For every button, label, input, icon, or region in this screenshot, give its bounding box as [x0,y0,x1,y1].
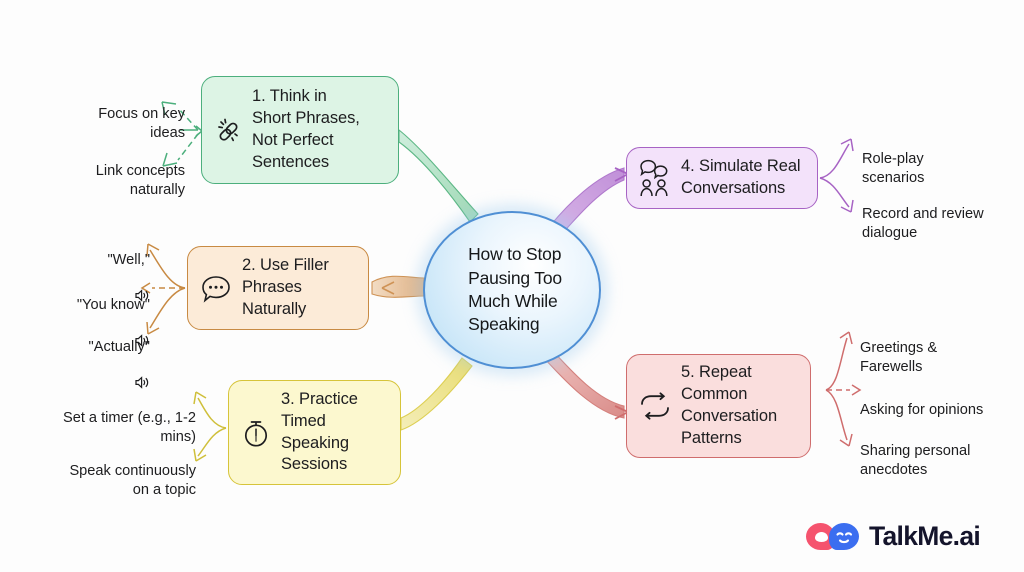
leaf-2-3[interactable]: "Actually" [50,319,150,395]
connector-branch-1 [399,130,478,222]
branch-node-3-label: 3. Practice Timed Speaking Sessions [281,389,358,477]
branch-node-2[interactable]: 2. Use Filler Phrases Naturally [187,246,369,330]
mindmap-canvas: How to Stop Pausing Too Much While Speak… [0,0,1024,572]
branch-node-3[interactable]: 3. Practice Timed Speaking Sessions [228,380,401,485]
leaf-connectors-branch-4 [820,139,853,212]
branch-node-4[interactable]: 4. Simulate Real Conversations [626,147,818,209]
leaf-3-2[interactable]: Speak continuously on a topic [18,443,196,500]
leaf-connectors-branch-3 [194,392,226,461]
talkme-ai-logo[interactable]: TalkMe.ai [806,521,980,552]
two-people-talking-icon [638,158,672,198]
leaf-5-1[interactable]: Greetings & Farewells [860,320,1010,377]
central-topic-node[interactable]: How to Stop Pausing Too Much While Speak… [423,211,601,369]
connector-branch-2 [372,276,424,297]
repeat-loop-icon [638,391,672,421]
leaf-1-1[interactable]: Focus on key ideas [40,86,185,143]
branch-node-1[interactable]: 1. Think in Short Phrases, Not Perfect S… [201,76,399,184]
branch-node-5[interactable]: 5. Repeat Common Conversation Patterns [626,354,811,458]
leaf-4-1[interactable]: Role-play scenarios [862,131,1017,188]
blue-bubble-smiley-icon [829,523,859,550]
connector-branch-3 [401,358,472,430]
leaf-3-1[interactable]: Set a timer (e.g., 1-2 mins) [18,390,196,447]
leaf-connectors-branch-5 [826,332,860,446]
stopwatch-icon [240,416,272,450]
branch-node-1-label: 1. Think in Short Phrases, Not Perfect S… [252,86,360,174]
broken-chain-icon [213,115,243,145]
leaf-4-2[interactable]: Record and review dialogue [862,186,1022,243]
leaf-5-3[interactable]: Sharing personal anecdotes [860,423,1020,480]
leaf-1-2[interactable]: Link concepts naturally [40,143,185,200]
central-topic-label: How to Stop Pausing Too Much While Speak… [462,243,562,337]
logo-wordmark: TalkMe.ai [869,521,980,552]
chat-bubbles-logo-icon [806,521,860,552]
connector-branch-5 [544,350,628,419]
speech-bubble-ellipsis-icon [199,272,233,304]
branch-node-5-label: 5. Repeat Common Conversation Patterns [681,362,777,450]
branch-node-2-label: 2. Use Filler Phrases Naturally [242,255,329,321]
leaf-5-2[interactable]: Asking for opinions [860,382,1020,420]
branch-node-4-label: 4. Simulate Real Conversations [681,156,800,200]
